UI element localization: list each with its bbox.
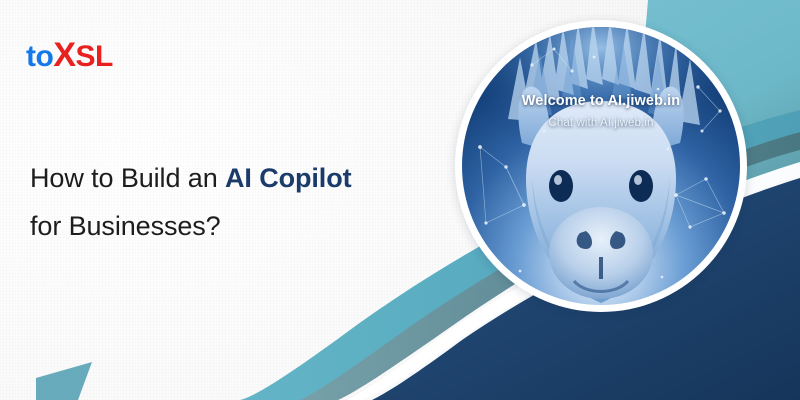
headline-line-1: How to Build an AI Copilot	[30, 154, 430, 202]
toxsl-logo[interactable]: toXSL	[26, 38, 113, 72]
logo-text-to: to	[26, 40, 53, 73]
logo-text-sl: SL	[76, 40, 113, 73]
blog-banner: toXSL How to Build an AI Copilot for Bus…	[0, 0, 800, 400]
circular-image-frame: Welcome to AI.jiweb.in Chat with AI.jiwe…	[455, 20, 747, 312]
network-dots-overlay	[462, 27, 740, 305]
logo-text-x: X	[53, 36, 75, 74]
headline-accent: AI Copilot	[225, 163, 351, 193]
llama-photo: Welcome to AI.jiweb.in Chat with AI.jiwe…	[462, 27, 740, 305]
headline-prefix: How to Build an	[30, 163, 225, 193]
teal-fleck-path	[36, 362, 92, 400]
headline-line-2: for Businesses?	[30, 202, 430, 250]
page-title: How to Build an AI Copilot for Businesse…	[30, 154, 430, 250]
